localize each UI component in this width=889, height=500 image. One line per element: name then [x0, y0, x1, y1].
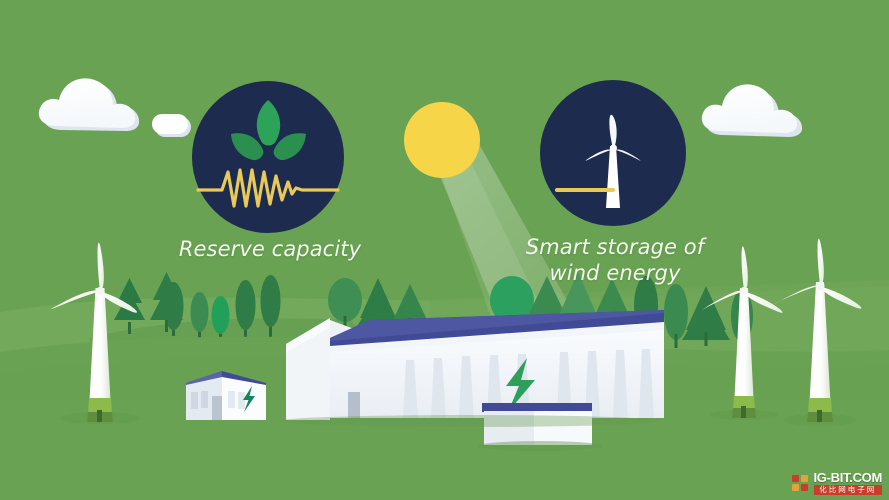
badge-smart-storage[interactable] — [540, 80, 686, 226]
annex-roof — [482, 403, 592, 412]
badge-label-reserve-capacity: Reserve capacity — [150, 236, 390, 262]
cloud-icon-left-small — [152, 114, 191, 137]
illustration-scene: Reserve capacity Smart storage of wind e… — [0, 0, 889, 500]
watermark-logo-icon — [791, 473, 811, 493]
tree-cypress — [212, 296, 230, 334]
accent-line — [555, 188, 615, 192]
sun-icon — [404, 102, 480, 178]
badge-label-smart-storage: Smart storage of wind energy — [495, 234, 735, 286]
tree-round — [328, 278, 362, 322]
tree-cypress — [664, 284, 688, 340]
tree-cypress — [236, 280, 256, 330]
badge-reserve-capacity[interactable] — [192, 81, 344, 233]
landscape-layer — [0, 0, 889, 500]
watermark-main-text: IG-BIT.COM — [814, 471, 883, 484]
watermark-sub-text: 化比网电子网 — [814, 485, 883, 495]
ig-bit-watermark: IG-BIT.COM 化比网电子网 — [788, 469, 886, 497]
tree-cypress — [261, 275, 281, 327]
tree-cypress — [191, 292, 209, 332]
